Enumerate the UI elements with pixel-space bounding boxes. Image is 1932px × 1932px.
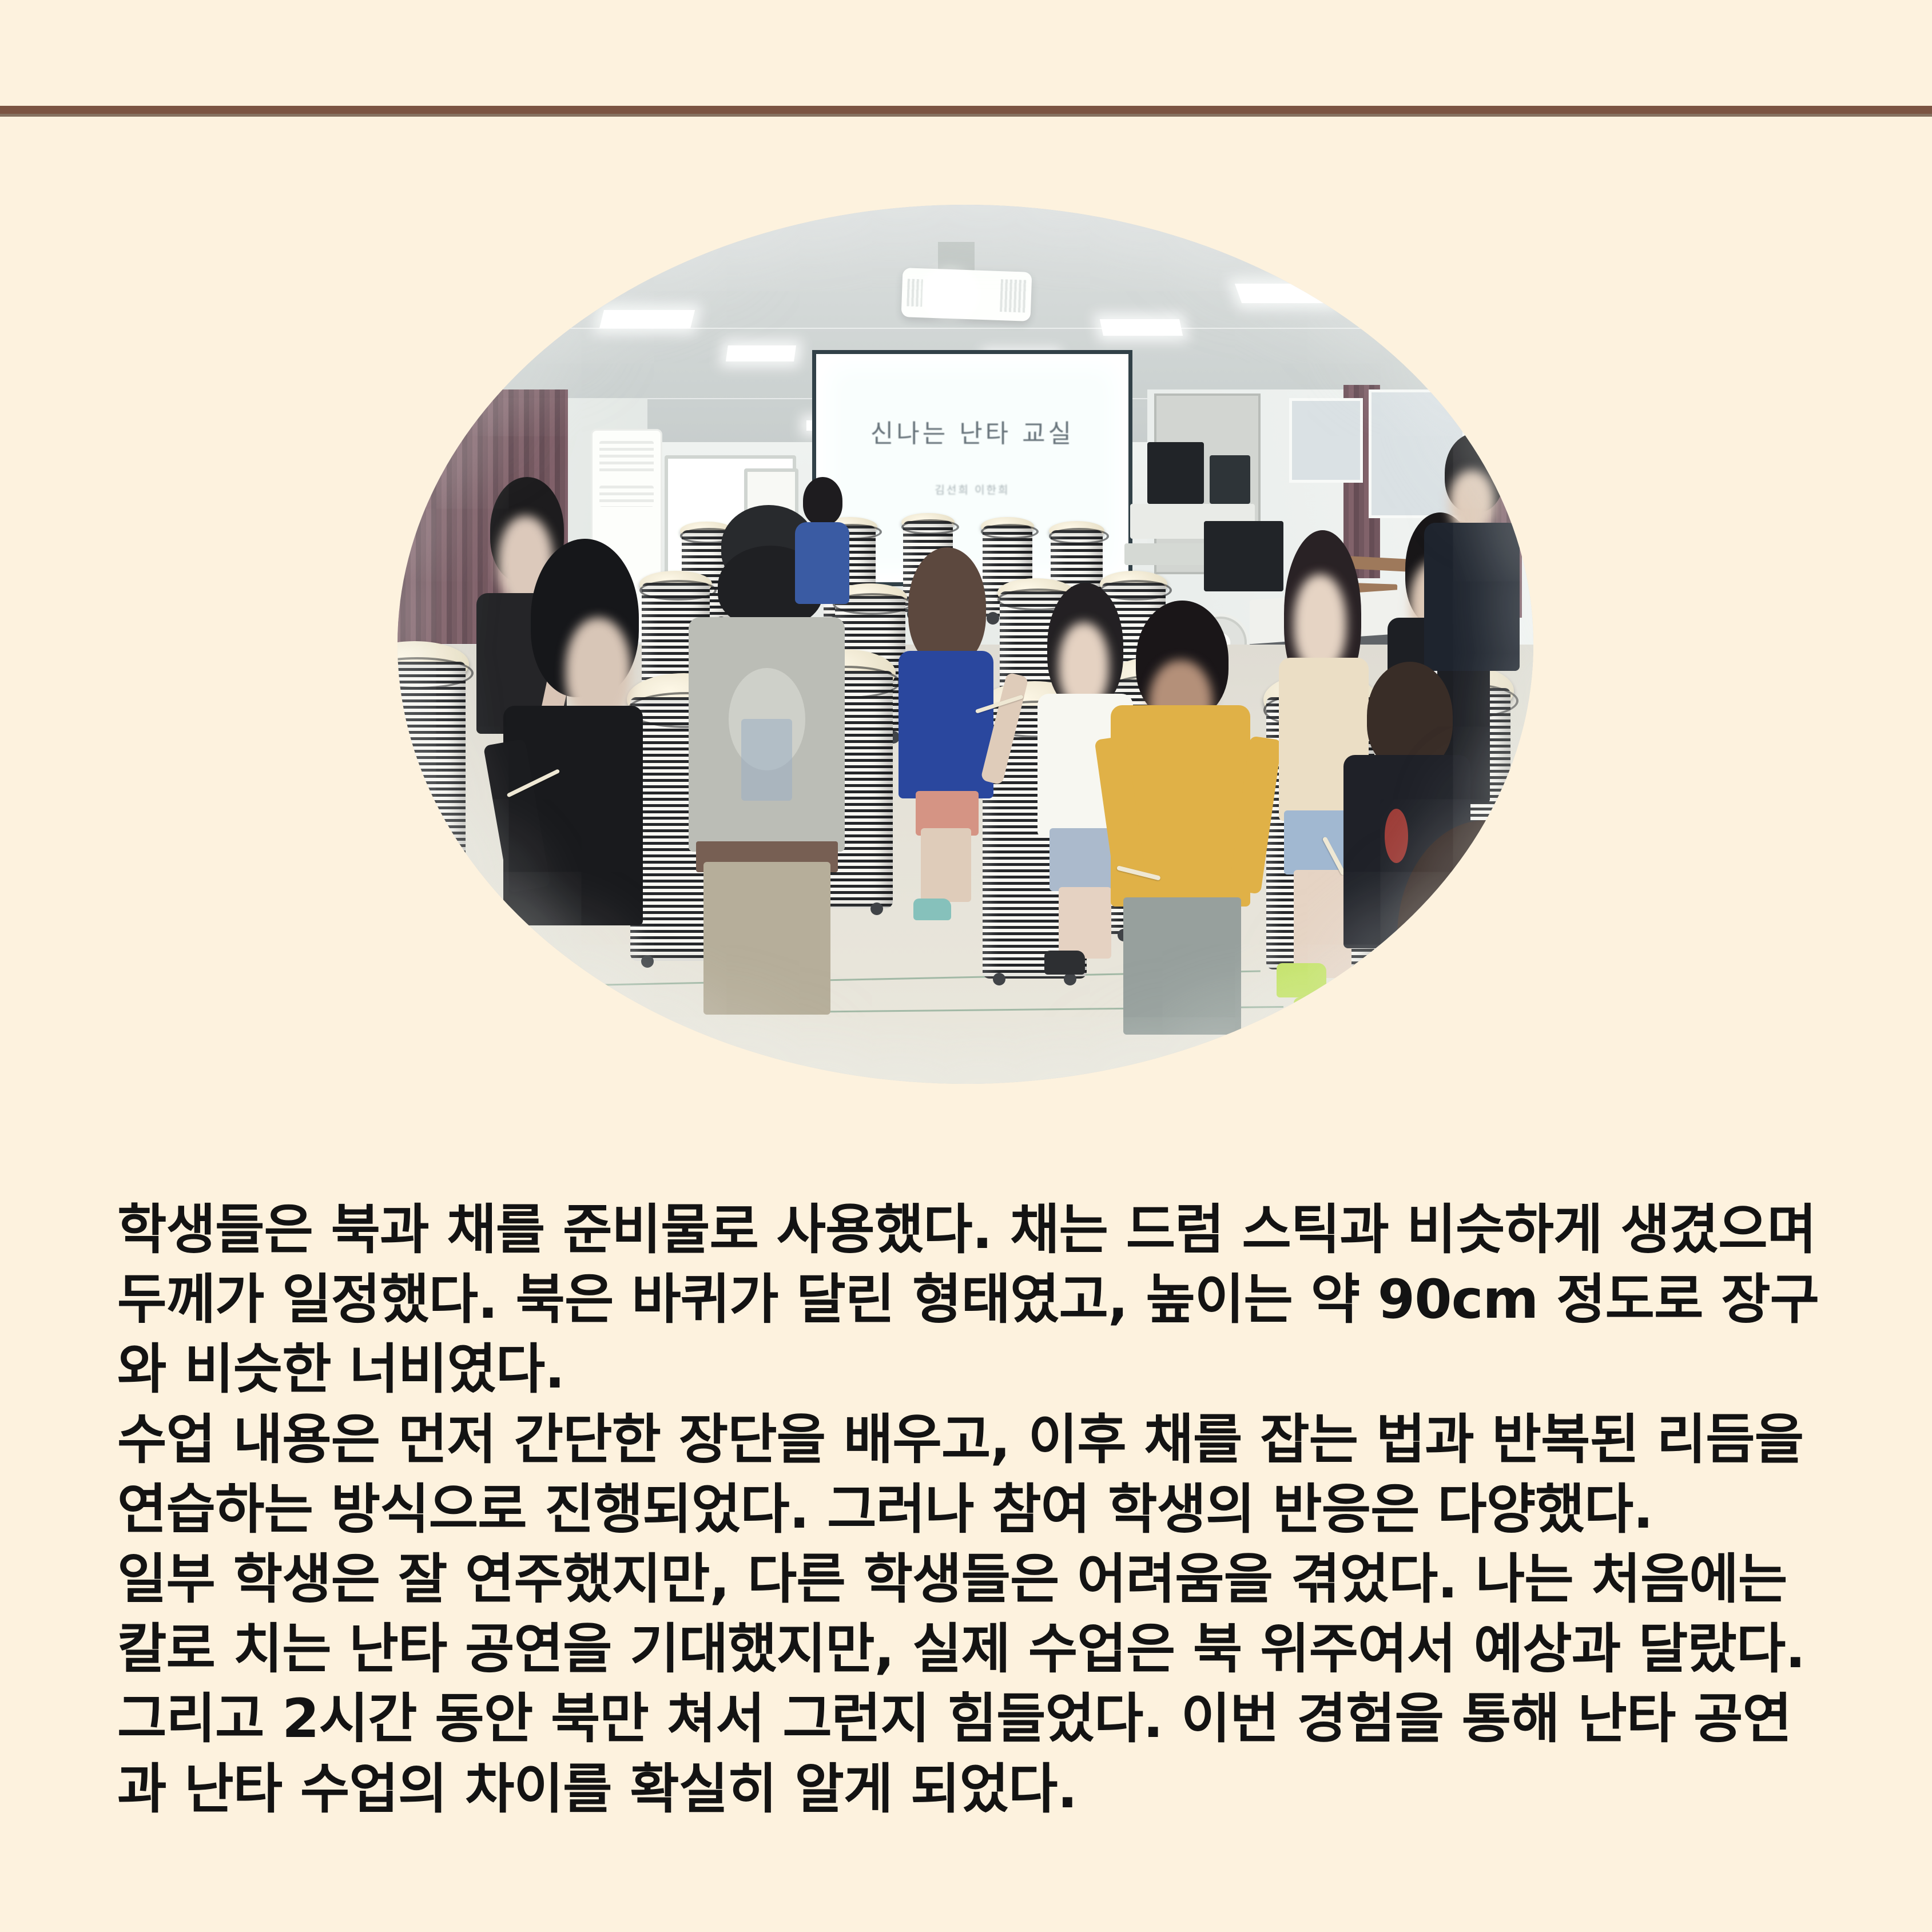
page-root: 🚶 신나는 난타: [0, 0, 1932, 1932]
photo-vignette: [397, 205, 1533, 1084]
top-divider-rule: [0, 106, 1932, 114]
ceiling-light: [496, 267, 583, 286]
classroom-scene: 🚶 신나는 난타: [397, 205, 1533, 1084]
photo-frame: 🚶 신나는 난타: [397, 205, 1533, 1084]
top-divider-shadow: [0, 114, 1932, 117]
article-paragraph-2: 수업 내용은 먼저 간단한 장단을 배우고, 이후 채를 잡는 법과 반복된 리…: [117, 1405, 1822, 1545]
shoe-croc: [1294, 997, 1346, 1032]
article-paragraph-1: 학생들은 북과 채를 준비물로 사용했다. 채는 드럼 스틱과 비슷하게 생겼으…: [117, 1195, 1822, 1405]
nanta-drum-class-photo: 🚶 신나는 난타: [397, 205, 1533, 1084]
article-paragraph-3: 일부 학생은 잘 연주했지만, 다른 학생들은 어려움을 겪었다. 나는 처음에…: [117, 1545, 1822, 1824]
exit-sign-icon: 🚶: [433, 393, 463, 425]
article-body: 학생들은 북과 채를 준비물로 사용했다. 채는 드럼 스틱과 비슷하게 생겼으…: [117, 1195, 1822, 1824]
exit-sign-glyph: 🚶: [440, 402, 455, 417]
